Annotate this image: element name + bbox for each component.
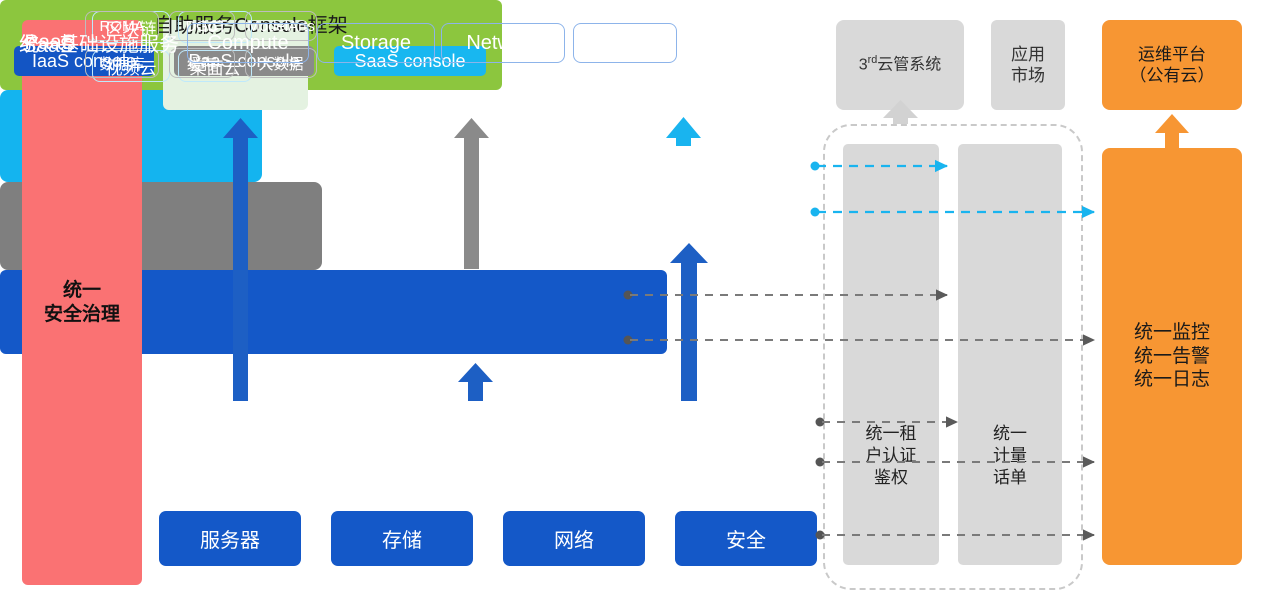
- arrow-infra-to-saas: [670, 243, 708, 401]
- hardware-network-box[interactable]: 网络: [503, 511, 645, 566]
- hardware-server-box[interactable]: 服务器: [159, 511, 301, 566]
- infra-service-compute[interactable]: Compute: [187, 23, 309, 63]
- security-governance-line2: 安全治理: [44, 303, 120, 327]
- infra-service-storage[interactable]: Storage: [317, 23, 435, 63]
- security-governance-panel[interactable]: 统一 安全治理: [22, 20, 142, 585]
- ops-platform-line1: 运维平台: [1130, 44, 1215, 65]
- unified-tenant-auth-panel[interactable]: 统一租 户认证 鉴权: [843, 144, 939, 565]
- app-market-line1: 应用: [1011, 44, 1045, 65]
- third-party-ordinal-sup: rd: [868, 54, 878, 66]
- unified-tenant-auth-label: 统一租 户认证 鉴权: [843, 423, 939, 489]
- arrow-paas-to-console: [454, 118, 489, 269]
- app-market-line2: 市场: [1011, 65, 1045, 86]
- app-market-box[interactable]: 应用 市场: [991, 20, 1065, 110]
- infra-service-network[interactable]: Network: [441, 23, 565, 63]
- unified-metering-billing-panel[interactable]: 统一 计量 话单: [958, 144, 1062, 565]
- unified-monitoring-line3: 统一日志: [1134, 368, 1210, 392]
- ops-platform-public-cloud-box[interactable]: 运维平台 （公有云）: [1102, 20, 1242, 110]
- unified-monitoring-panel[interactable]: 统一监控 统一告警 统一日志: [1102, 148, 1242, 565]
- arrow-infra-to-paas: [458, 363, 493, 401]
- ops-platform-line2: （公有云）: [1130, 65, 1215, 86]
- security-governance-line1: 统一: [44, 279, 120, 303]
- unified-metering-billing-label: 统一 计量 话单: [958, 423, 1062, 489]
- infra-service-cce[interactable]: CCE: [573, 23, 677, 63]
- hardware-security-box[interactable]: 安全: [675, 511, 817, 566]
- unified-monitoring-line1: 统一监控: [1134, 321, 1210, 345]
- unified-monitoring-line2: 统一告警: [1134, 345, 1210, 369]
- unified-infrastructure-label: 统一基础设施服务: [14, 28, 184, 57]
- third-party-cloud-mgmt-box[interactable]: 3rd云管系统: [836, 20, 964, 110]
- third-party-cloud-mgmt-label: 3rd云管系统: [859, 54, 942, 75]
- arrow-saas-to-console: [666, 117, 701, 146]
- architecture-diagram: 统一 安全治理 API网关 自助服务Console框架 IaaS console…: [0, 0, 1265, 605]
- arrow-ops-panel-to-ops-platform: [1155, 114, 1189, 148]
- hardware-storage-box[interactable]: 存储: [331, 511, 473, 566]
